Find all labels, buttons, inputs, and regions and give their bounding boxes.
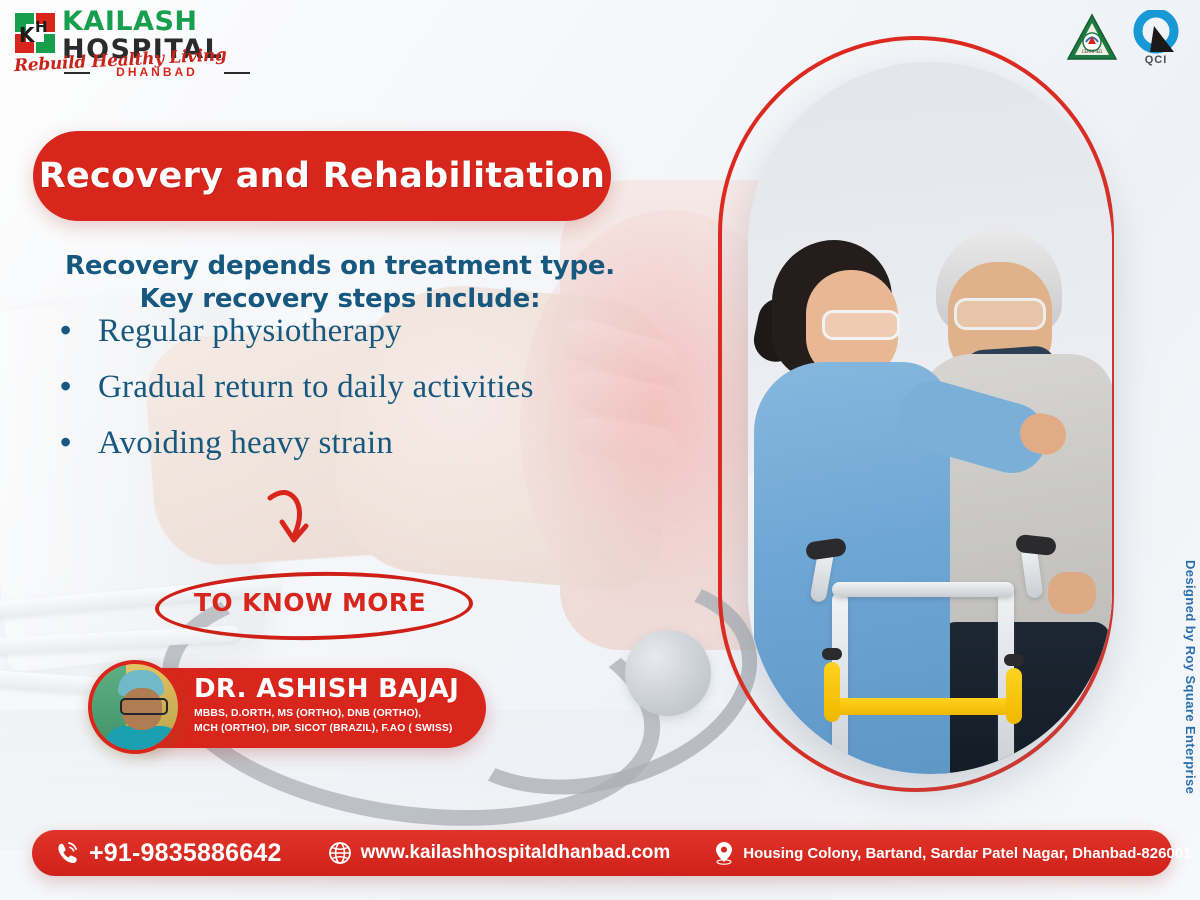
list-item: • Regular physiotherapy [52,312,692,351]
hero-photo-frame [718,36,1114,792]
avatar-scrubs [106,726,180,754]
patient-glasses-icon [954,298,1046,330]
poster-canvas: K H KAILASH HOSPITAL DHANBAD Rebuild Hea… [0,0,1200,900]
page-title: Recovery and Rehabilitation [39,156,605,196]
brand-name-kailash: KAILASH [62,8,302,35]
svg-text:K: K [19,23,36,47]
designer-credit: Designed by Roy Square Enterprise [1183,560,1198,794]
walker-clamp [822,648,842,660]
list-item: • Gradual return to daily activities [52,368,692,407]
phone-call-icon [54,840,80,866]
curved-down-arrow-icon [258,482,338,562]
nurse-glasses-icon [822,310,900,340]
walker-clamp [1004,654,1024,666]
globe-icon [328,841,352,865]
background-stethoscope-chestpiece [625,630,711,716]
bullet-marker-icon: • [52,370,98,402]
website-contact[interactable]: www.kailashhospitaldhanbad.com [328,841,671,865]
phone-number: +91-9835886642 [89,839,282,868]
walker-yellow-leg [824,662,840,722]
patient-hand [1048,572,1096,614]
avatar [88,660,182,754]
hero-photo [748,62,1112,774]
recovery-steps-list: • Regular physiotherapy • Gradual return… [52,312,692,480]
doctor-name: DR. ASHISH BAJAJ [194,676,472,703]
doctor-card[interactable]: DR. ASHISH BAJAJ MBBS, D.ORTH, MS (ORTHO… [138,668,486,748]
location-pin-icon [714,841,734,865]
doctor-credentials-line-1: MBBS, D.ORTH, MS (ORTHO), DNB (ORTHO), [194,706,472,721]
list-item-label: Regular physiotherapy [98,312,402,351]
website-url: www.kailashhospitaldhanbad.com [361,842,671,864]
phone-contact[interactable]: +91-9835886642 [54,839,282,868]
subtitle-line-1: Recovery depends on treatment type. [40,250,640,283]
walker-yellow-leg [1006,668,1022,724]
kh-monogram-icon: K H [14,12,56,54]
svg-text:H: H [35,18,48,36]
headline-banner: Recovery and Rehabilitation [33,131,611,221]
bullet-marker-icon: • [52,426,98,458]
avatar-glasses-icon [120,698,168,715]
address-contact[interactable]: Housing Colony, Bartand, Sardar Patel Na… [714,841,1191,865]
bullet-marker-icon: • [52,314,98,346]
walker-yellow-bar [826,698,1022,715]
address-text: Housing Colony, Bartand, Sardar Patel Na… [743,845,1191,862]
list-item-label: Gradual return to daily activities [98,368,534,407]
contact-footer-bar: +91-9835886642 www.kailashhospitaldhanba… [32,830,1172,876]
cta-label: TO KNOW MORE [155,572,465,632]
brand-logo[interactable]: K H KAILASH HOSPITAL DHANBAD Rebuild Hea… [14,8,304,80]
doctor-credentials-line-2: MCH (ORTHO), DIP. SICOT (BRAZIL), F.AO (… [194,721,472,736]
qci-label: QCI [1128,54,1184,66]
subtitle-block: Recovery depends on treatment type. Key … [40,250,640,317]
list-item: • Avoiding heavy strain [52,424,692,463]
list-item-label: Avoiding heavy strain [98,424,393,463]
walker-crossbar [832,582,1014,597]
to-know-more-button[interactable]: TO KNOW MORE [155,572,465,632]
